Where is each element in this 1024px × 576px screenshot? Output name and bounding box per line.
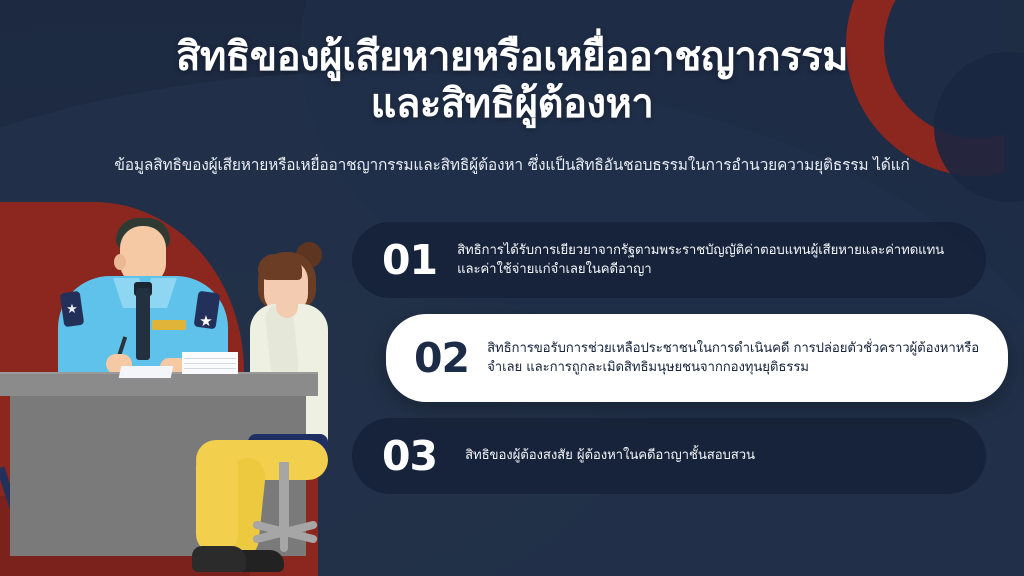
page-title: สิทธิของผู้เสียหายหรือเหยื่ออาชญากรรม แล… bbox=[0, 34, 1024, 128]
list-item-highlighted[interactable]: 02 สิทธิการขอรับการช่วยเหลือประชาชนในการ… bbox=[386, 314, 1008, 402]
list-item[interactable]: 01 สิทธิการได้รับการเยียวยาจากรัฐตามพระร… bbox=[352, 222, 986, 298]
title-line-1: สิทธิของผู้เสียหายหรือเหยื่ออาชญากรรม bbox=[0, 34, 1024, 81]
office-chair-leg-center bbox=[280, 526, 288, 552]
page-subtitle: ข้อมูลสิทธิของผู้เสียหายหรือเหยื่ออาชญาก… bbox=[0, 152, 1024, 177]
list-item-number: 03 bbox=[352, 432, 457, 480]
list-item-number: 02 bbox=[386, 334, 487, 382]
rights-list: 01 สิทธิการได้รับการเยียวยาจากรัฐตามพระร… bbox=[0, 214, 1024, 514]
woman-shoe-front bbox=[192, 546, 246, 572]
list-item-text: สิทธิการได้รับการเยียวยาจากรัฐตามพระราชบ… bbox=[457, 241, 986, 279]
list-item[interactable]: 03 สิทธิของผู้ต้องสงสัย ผู้ต้องหาในคดีอา… bbox=[352, 418, 986, 494]
infographic-canvas: ★ ★ สิทธิของผู้เสียหายหรือเหยื่ออา bbox=[0, 0, 1024, 576]
list-item-text: สิทธิการขอรับการช่วยเหลือประชาชนในการดำเ… bbox=[487, 339, 1008, 377]
title-line-2: และสิทธิผู้ต้องหา bbox=[0, 81, 1024, 128]
list-item-number: 01 bbox=[352, 236, 457, 284]
list-item-text: สิทธิของผู้ต้องสงสัย ผู้ต้องหาในคดีอาญาช… bbox=[457, 446, 777, 465]
